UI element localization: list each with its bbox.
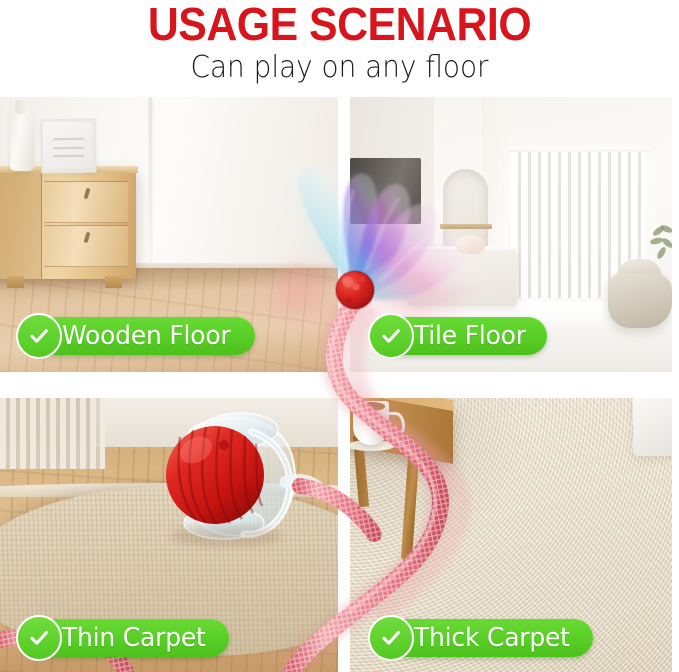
bed xyxy=(408,251,517,306)
picture-frame-mat xyxy=(44,122,92,169)
badge-wooden-floor[interactable]: Wooden Floor xyxy=(22,317,255,355)
background-object xyxy=(633,398,672,456)
pillow xyxy=(456,235,485,254)
badge-tile-floor[interactable]: Tile Floor xyxy=(374,317,547,355)
frame-art-line-1 xyxy=(52,138,83,141)
check-circle-icon xyxy=(16,313,62,359)
check-circle-icon xyxy=(368,615,414,661)
scenario-grid xyxy=(0,97,672,672)
badge-thick-carpet[interactable]: Thick Carpet xyxy=(374,619,593,657)
badge-label: Thin Carpet xyxy=(62,619,206,657)
plant-leaf xyxy=(659,224,672,234)
nightstand-leg-left xyxy=(7,276,24,289)
badge-label: Thick Carpet xyxy=(414,619,570,657)
plant-leaf xyxy=(656,245,668,259)
frame-art-line-2 xyxy=(53,146,84,149)
page-subtitle: Can play on any floor xyxy=(24,50,655,86)
plant xyxy=(649,226,672,273)
wall-corner-seam xyxy=(149,97,152,270)
back-wall xyxy=(95,398,338,447)
badge-thin-carpet[interactable]: Thin Carpet xyxy=(22,619,229,657)
check-circle-icon xyxy=(16,615,62,661)
alcove-shelf xyxy=(440,224,492,230)
header: USAGE SCENARIO Can play on any floor xyxy=(0,0,679,95)
coffee-surface xyxy=(356,402,385,410)
bottle-cap xyxy=(15,100,30,114)
television xyxy=(350,158,421,224)
check-circle-icon xyxy=(368,313,414,359)
bottle xyxy=(10,105,34,171)
nightstand-leg-right xyxy=(105,276,122,289)
page-title: USAGE SCENARIO xyxy=(24,0,655,50)
floor-cushion xyxy=(608,273,672,328)
badge-label: Tile Floor xyxy=(414,317,526,355)
picture-frame xyxy=(40,119,96,173)
mug-handle xyxy=(386,412,405,440)
badge-label: Wooden Floor xyxy=(62,317,231,355)
nightstand-side-panel xyxy=(0,169,42,279)
curtain xyxy=(0,398,105,469)
frame-art-line-3 xyxy=(53,155,84,158)
usage-scenario-infographic: USAGE SCENARIO Can play on any floor xyxy=(0,0,679,672)
